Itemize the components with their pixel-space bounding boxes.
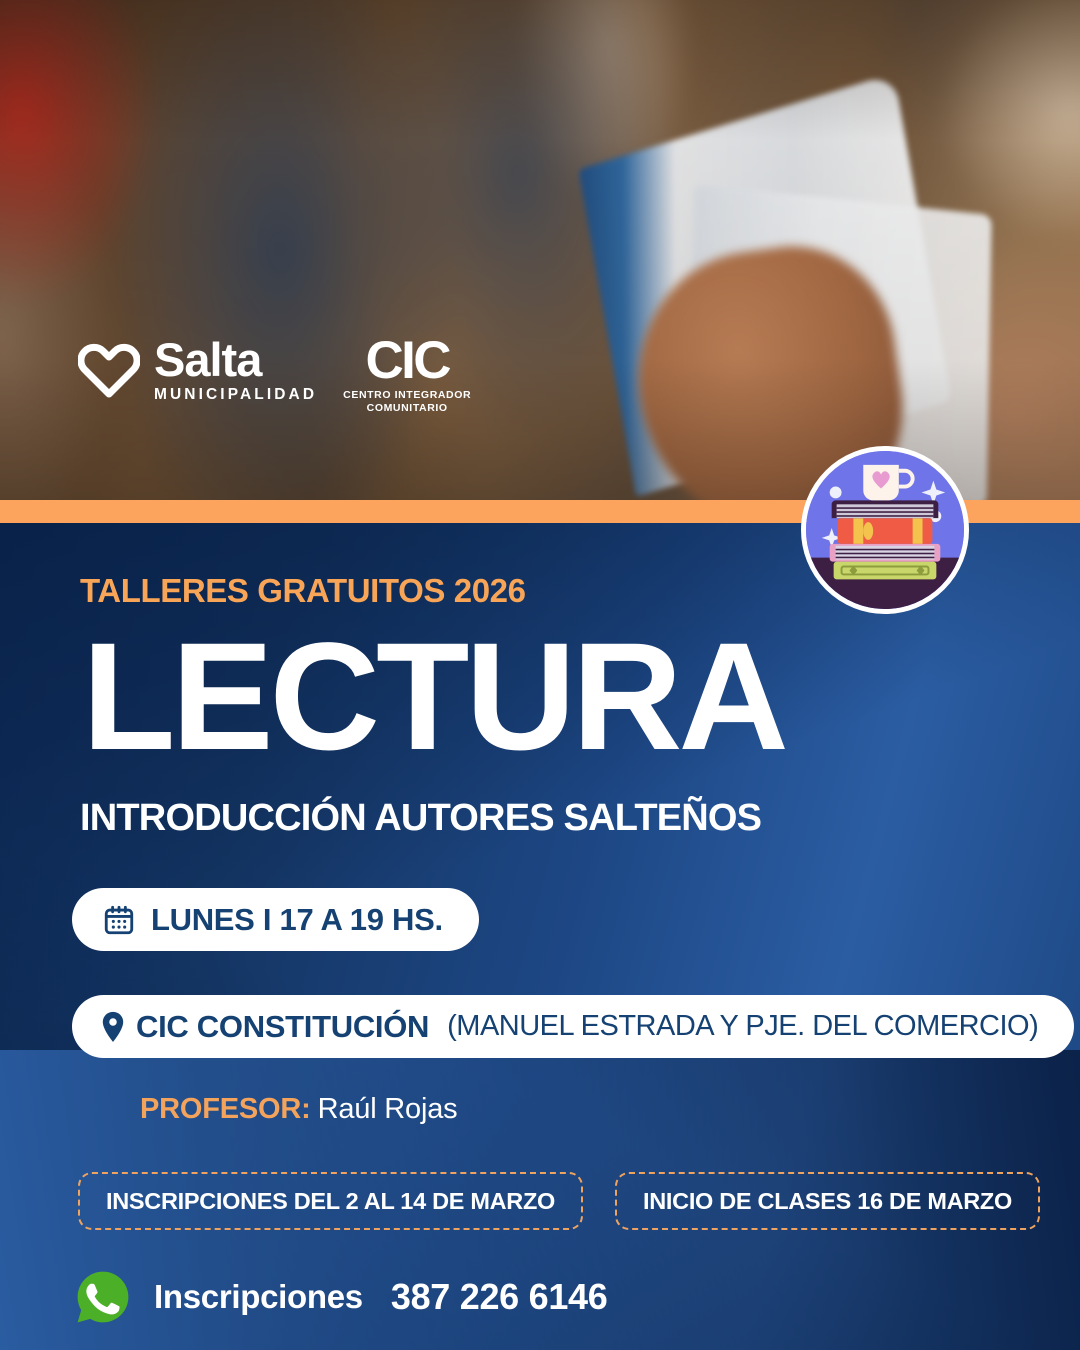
kicker-text: TALLERES GRATUITOS 2026 [80,572,526,610]
whatsapp-label: Inscripciones [154,1278,363,1316]
poster-canvas: Salta MUNICIPALIDAD CIC CENTRO INTEGRADO… [0,0,1080,1350]
class-start-box: INICIO DE CLASES 16 DE MARZO [615,1172,1040,1230]
salta-municipality-logo: Salta MUNICIPALIDAD [78,336,317,403]
page-title: LECTURA [82,620,785,773]
subtitle-text: INTRODUCCIÓN AUTORES SALTEÑOS [80,797,761,840]
salta-subtitle: MUNICIPALIDAD [154,387,317,403]
schedule-pill: LUNES I 17 A 19 HS. [72,888,479,951]
calendar-icon [102,903,136,937]
hero-photo-reading-workshop [0,0,1080,500]
salta-name: Salta [154,336,317,383]
cic-subtitle-line2: COMUNITARIO [367,402,448,414]
location-pin-icon [100,1010,126,1044]
professor-name: Raúl Rojas [318,1093,458,1125]
venue-address: (MANUEL ESTRADA Y PJE. DEL COMERCIO) [447,1010,1038,1043]
venue-name: CIC CONSTITUCIÓN [136,1009,429,1045]
heart-outline-icon [78,340,140,398]
logo-lockup: Salta MUNICIPALIDAD CIC CENTRO INTEGRADO… [78,336,471,415]
enrollment-dates-box: INSCRIPCIONES DEL 2 AL 14 DE MARZO [78,1172,583,1230]
whatsapp-icon[interactable] [74,1268,132,1326]
schedule-text: LUNES I 17 A 19 HS. [151,902,443,938]
cic-subtitle: CENTRO INTEGRADOR COMUNITARIO [343,389,471,415]
cic-logo: CIC CENTRO INTEGRADOR COMUNITARIO [343,337,471,415]
books-and-coffee-cup-icon [801,446,969,614]
whatsapp-contact[interactable]: Inscripciones 387 226 6146 [74,1268,607,1326]
photo-shade-overlay [0,0,1080,500]
whatsapp-phone: 387 226 6146 [391,1276,608,1318]
dates-row: INSCRIPCIONES DEL 2 AL 14 DE MARZO INICI… [78,1172,1040,1230]
venue-pill: CIC CONSTITUCIÓN (MANUEL ESTRADA Y PJE. … [72,995,1074,1058]
professor-line: PROFESOR:Raúl Rojas [140,1093,457,1126]
cic-subtitle-line1: CENTRO INTEGRADOR [343,389,471,401]
cic-name: CIC [365,337,448,386]
professor-label: PROFESOR: [140,1093,311,1125]
salta-wordmark: Salta MUNICIPALIDAD [154,336,317,403]
